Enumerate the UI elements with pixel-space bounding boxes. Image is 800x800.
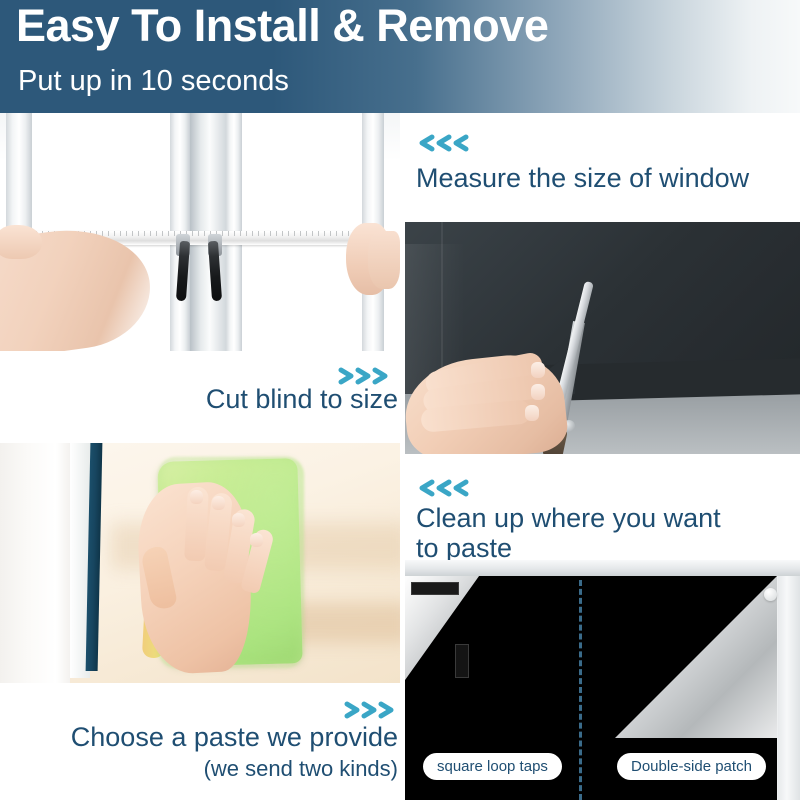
- chevron-left-triple-icon-2: [412, 478, 470, 498]
- loop-tape-on-wall: [411, 582, 459, 595]
- chevron-left-triple-icon: [412, 133, 470, 153]
- label-double-side-patch: Double-side patch: [617, 753, 766, 781]
- dashed-divider-line: [579, 580, 582, 800]
- fingernail-3: [232, 513, 245, 527]
- photo-measure-window: [0, 113, 400, 351]
- infographic-page: Easy To Install & Remove Put up in 10 se…: [0, 0, 800, 800]
- fingernail-4: [250, 533, 263, 547]
- cutting-fingernail-2: [531, 384, 545, 400]
- caption-choose-paste: Choose a paste we provide: [6, 722, 398, 752]
- chevron-right-triple-icon: [337, 366, 395, 386]
- window-frame-right-outer: [776, 570, 800, 800]
- page-subtitle: Put up in 10 seconds: [18, 66, 289, 98]
- caption-measure-window: Measure the size of window: [416, 163, 796, 193]
- cutting-fingernail-1: [531, 362, 545, 378]
- photo-clean-window: [0, 443, 400, 683]
- chevron-right-triple-icon-2: [343, 700, 401, 720]
- window-knob: [764, 588, 777, 601]
- fingernail-2: [212, 496, 225, 510]
- photo-cut-fabric: [405, 222, 800, 454]
- window-header-rail: [405, 560, 800, 576]
- photo-installed-blind: square loop taps Double-side patch: [405, 560, 800, 800]
- fingernail-1: [190, 490, 203, 504]
- caption-clean-paste-area: Clean up where you want to paste: [416, 503, 796, 563]
- label-square-loop-taps: square loop taps: [423, 753, 562, 781]
- loop-tape-on-blind: [455, 644, 469, 678]
- left-hand: [0, 225, 42, 259]
- caption-cut-blind: Cut blind to size: [6, 384, 398, 414]
- right-hand-fingers: [368, 231, 400, 289]
- page-title: Easy To Install & Remove: [16, 0, 548, 54]
- header-banner: Easy To Install & Remove Put up in 10 se…: [0, 0, 800, 113]
- window-frame-white: [0, 443, 70, 683]
- caption-choose-paste-note: (we send two kinds): [6, 757, 398, 782]
- cutting-fingernail-3: [525, 405, 539, 421]
